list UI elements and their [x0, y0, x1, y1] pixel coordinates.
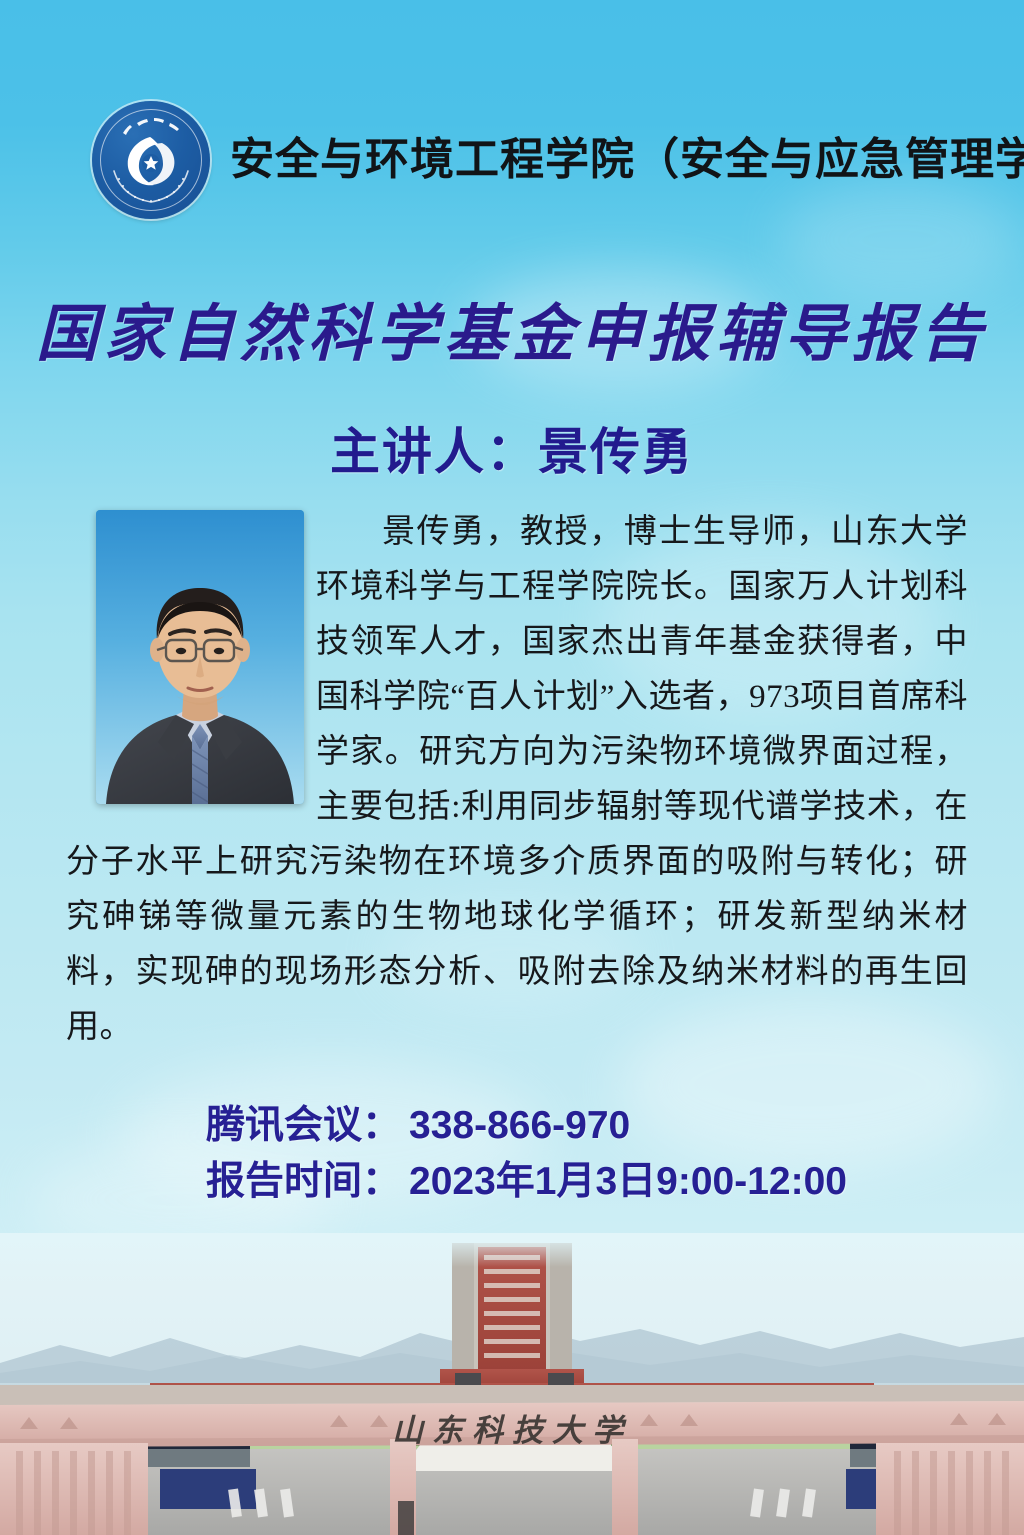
meeting-platform-label: 腾讯会议： — [206, 1098, 401, 1154]
campus-gate: 山东科技大学 — [0, 1385, 1024, 1535]
university-seal-icon — [92, 101, 210, 219]
meeting-time-value: 2023年1月3日9:00-12:00 — [409, 1154, 847, 1210]
gate-university-name: 山东科技大学 — [0, 1405, 1024, 1450]
poster-header: 安全与环境工程学院（安全与应急管理学院） — [0, 106, 1024, 214]
meeting-info: 腾讯会议：338-866-970 报告时间：2023年1月3日9:00-12:0… — [206, 1098, 847, 1210]
speaker-bio: 景传勇，教授，博士生导师，山东大学环境科学与工程学院院长。国家万人计划科技领军人… — [66, 505, 968, 1055]
meeting-time-label: 报告时间： — [206, 1154, 401, 1210]
meeting-id-value: 338-866-970 — [409, 1098, 630, 1154]
speaker-heading: 主讲人：景传勇 — [0, 412, 1024, 484]
meeting-time-row: 报告时间：2023年1月3日9:00-12:00 — [206, 1154, 847, 1210]
poster-root: 安全与环境工程学院（安全与应急管理学院） 国家自然科学基金申报辅导报告 主讲人：… — [0, 0, 1024, 1535]
page-title: 国家自然科学基金申报辅导报告 — [0, 283, 1024, 373]
college-name: 安全与环境工程学院（安全与应急管理学院） — [230, 138, 1024, 182]
meeting-platform-row: 腾讯会议：338-866-970 — [206, 1098, 847, 1154]
bio-portrait-spacer — [66, 505, 316, 810]
